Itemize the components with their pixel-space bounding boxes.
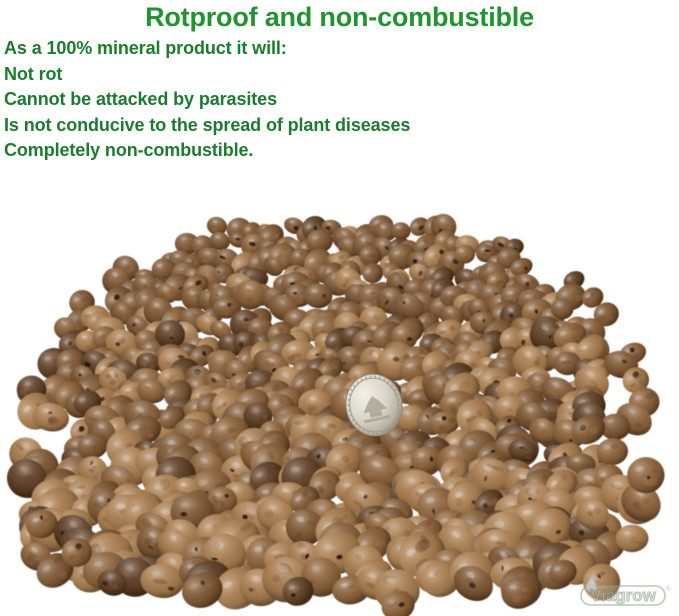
registered-trademark-icon: ® [665, 585, 671, 593]
brand-watermark: Viagrow ® [577, 572, 673, 612]
viagrow-logo-icon: Viagrow ® [581, 577, 671, 605]
clay-pebble-pile-photo [0, 0, 679, 616]
pebble-pile-svg [0, 0, 679, 616]
watermark-brand-text: Viagrow [590, 586, 657, 605]
clay-pebble [616, 525, 649, 553]
product-image-canvas: Rotproof and non-combustible As a 100% m… [0, 0, 679, 616]
